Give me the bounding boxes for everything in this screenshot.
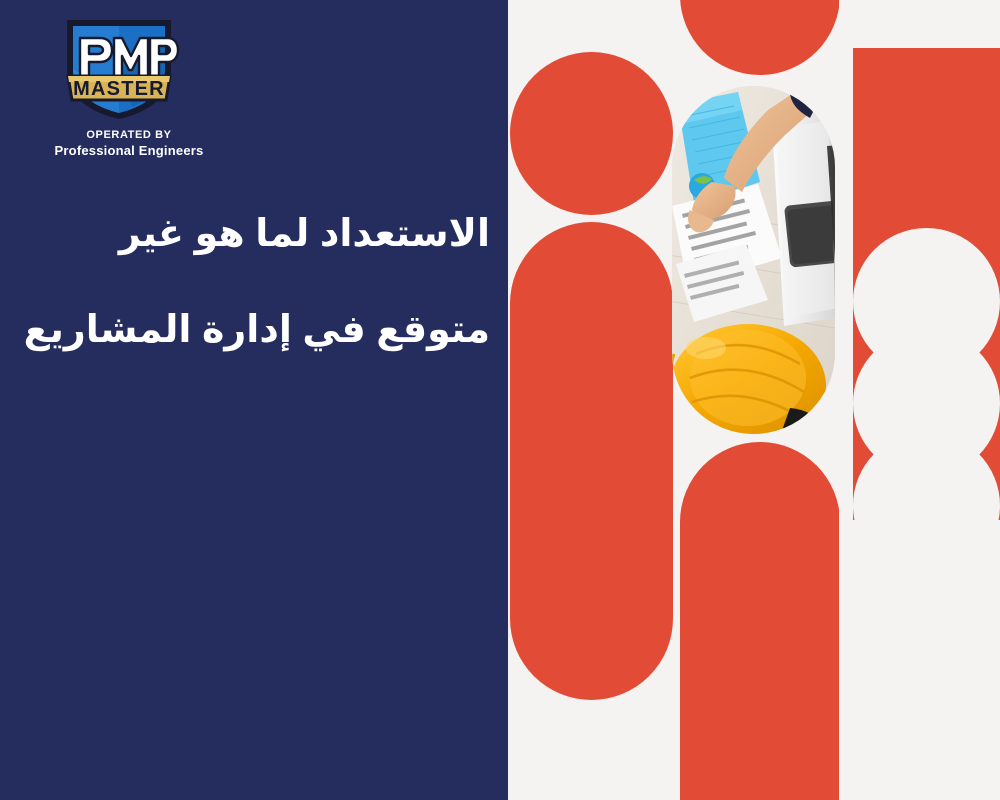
project-workspace-photo [672,86,835,434]
red-pill-shape-bottom [680,442,839,800]
headline: الاستعداد لما هو غير متوقع في إدارة المش… [12,186,490,378]
operated-by-label: OPERATED BY [54,128,204,142]
pmp-master-shield-icon: MASTER [58,14,180,122]
svg-text:MASTER: MASTER [73,78,165,100]
collage-column-right [845,0,1000,800]
circle-cutout-3 [853,432,1000,579]
collage-column-left [508,0,673,800]
brand-logo: MASTER OPERATED BY Professional Engineer… [54,14,214,159]
headline-line-1: الاستعداد لما هو غير [12,186,490,282]
headline-line-2: متوقع في إدارة المشاريع [12,282,490,378]
left-navy-panel: MASTER OPERATED BY Professional Engineer… [0,0,508,800]
red-half-dome-shape [680,0,839,75]
red-circle-shape [510,52,673,215]
social-graphic-canvas: MASTER OPERATED BY Professional Engineer… [0,0,1000,800]
red-pill-shape [510,222,673,700]
photo-illustration [672,86,835,434]
operator-name-label: Professional Engineers [54,143,204,159]
